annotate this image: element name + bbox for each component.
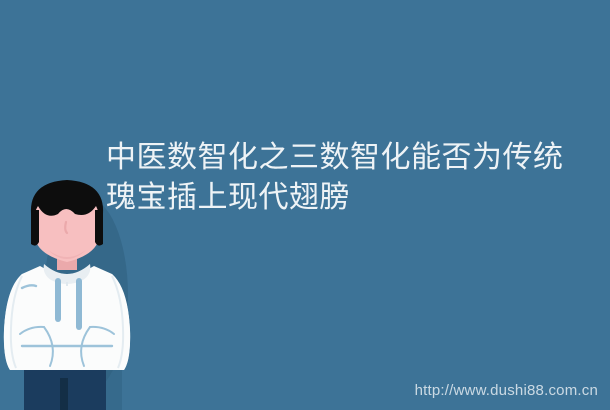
- page-title: 中医数智化之三数智化能否为传统 瑰宝插上现代翅膀: [106, 138, 598, 218]
- hoodie-shape: [4, 264, 130, 370]
- title-line-1: 中医数智化之三数智化能否为传统: [106, 138, 598, 178]
- watermark-url: http://www.dushi88.com.cn: [415, 382, 598, 399]
- title-line-2: 瑰宝插上现代翅膀: [106, 178, 598, 218]
- image-canvas: 中医数智化之三数智化能否为传统 瑰宝插上现代翅膀 http://www.dush…: [0, 0, 610, 410]
